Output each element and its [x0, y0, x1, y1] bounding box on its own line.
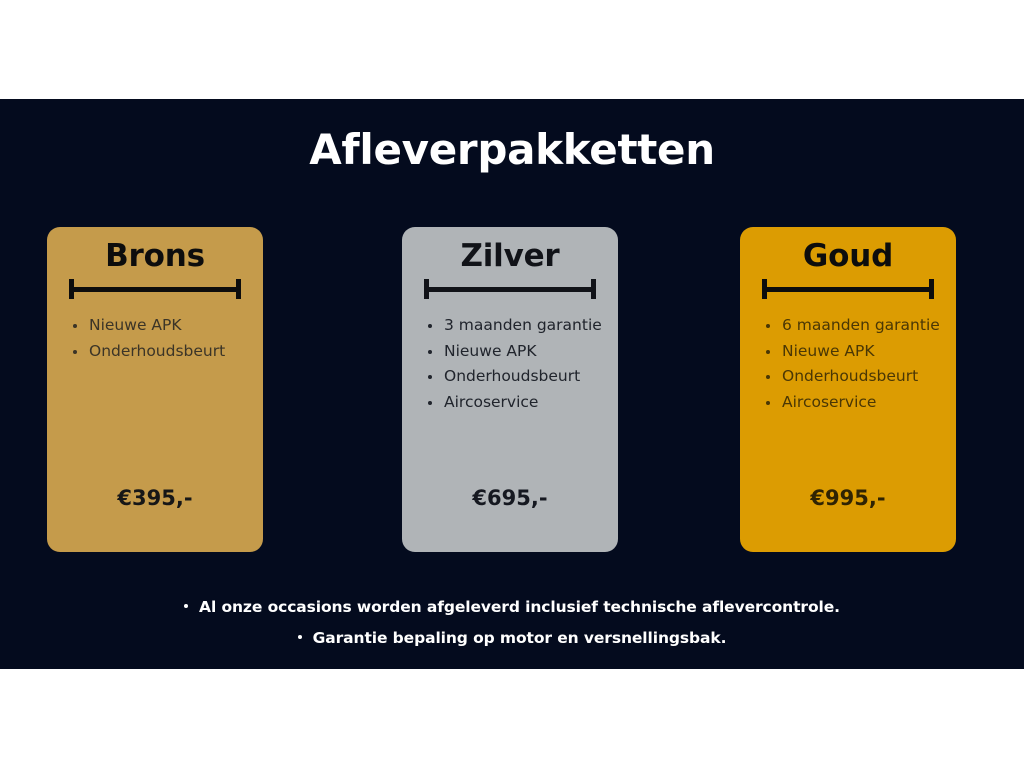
list-item: Onderhoudsbeurt — [69, 339, 253, 365]
package-price-zilver: €695,- — [402, 486, 618, 510]
package-card-row: Brons Nieuwe APK Onderhoudsbeurt €395,- … — [0, 227, 1024, 552]
feature-list-brons: Nieuwe APK Onderhoudsbeurt — [69, 313, 253, 364]
package-title-zilver: Zilver — [402, 239, 618, 273]
footer-note: Garantie bepaling op motor en versnellin… — [0, 623, 1024, 654]
package-card-brons[interactable]: Brons Nieuwe APK Onderhoudsbeurt €395,- — [47, 227, 263, 552]
feature-list-goud: 6 maanden garantie Nieuwe APK Onderhouds… — [762, 313, 946, 415]
package-card-zilver[interactable]: Zilver 3 maanden garantie Nieuwe APK Ond… — [402, 227, 618, 552]
footer-note-text: Al onze occasions worden afgeleverd incl… — [199, 598, 840, 616]
page-title: Afleverpakketten — [0, 128, 1024, 172]
footer-note: Al onze occasions worden afgeleverd incl… — [0, 592, 1024, 623]
package-price-brons: €395,- — [47, 486, 263, 510]
title-divider-icon — [69, 279, 241, 299]
package-card-goud[interactable]: Goud 6 maanden garantie Nieuwe APK Onder… — [740, 227, 956, 552]
footer-note-text: Garantie bepaling op motor en versnellin… — [313, 629, 727, 647]
list-item: Aircoservice — [424, 390, 608, 416]
title-divider-icon — [762, 279, 934, 299]
list-item: Aircoservice — [762, 390, 946, 416]
list-item: Onderhoudsbeurt — [762, 364, 946, 390]
list-item: 3 maanden garantie — [424, 313, 608, 339]
list-item: Onderhoudsbeurt — [424, 364, 608, 390]
package-title-brons: Brons — [47, 239, 263, 273]
title-divider-icon — [424, 279, 596, 299]
package-price-goud: €995,- — [740, 486, 956, 510]
bullet-icon — [298, 635, 302, 639]
list-item: 6 maanden garantie — [762, 313, 946, 339]
footer-notes: Al onze occasions worden afgeleverd incl… — [0, 592, 1024, 654]
list-item: Nieuwe APK — [762, 339, 946, 365]
feature-list-zilver: 3 maanden garantie Nieuwe APK Onderhouds… — [424, 313, 608, 415]
package-title-goud: Goud — [740, 239, 956, 273]
pricing-poster: Afleverpakketten Brons Nieuwe APK Onderh… — [0, 0, 1024, 768]
list-item: Nieuwe APK — [424, 339, 608, 365]
list-item: Nieuwe APK — [69, 313, 253, 339]
bullet-icon — [184, 604, 188, 608]
